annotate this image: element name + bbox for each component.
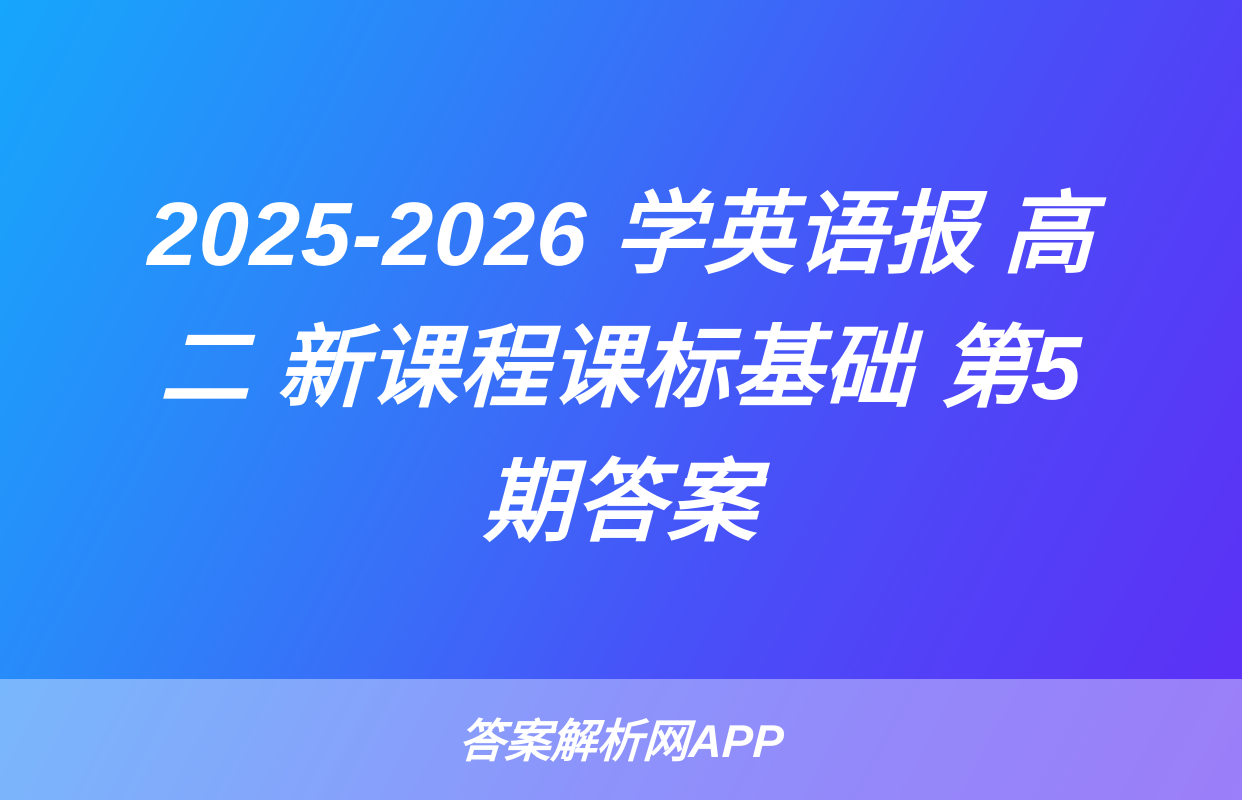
title-line-1: 2025-2026 学英语报 高 (39, 168, 1203, 302)
poster-canvas: 2025-2026 学英语报 高 二 新课程课标基础 第5 期答案 答案解析网A… (0, 0, 1242, 800)
footer-brand-band: 答案解析网APP (0, 679, 1242, 800)
page-title: 2025-2026 学英语报 高 二 新课程课标基础 第5 期答案 (0, 168, 1242, 570)
title-line-3: 期答案 (39, 436, 1203, 570)
app-brand-label: 答案解析网APP (457, 718, 784, 764)
title-line-2: 二 新课程课标基础 第5 (39, 302, 1203, 436)
